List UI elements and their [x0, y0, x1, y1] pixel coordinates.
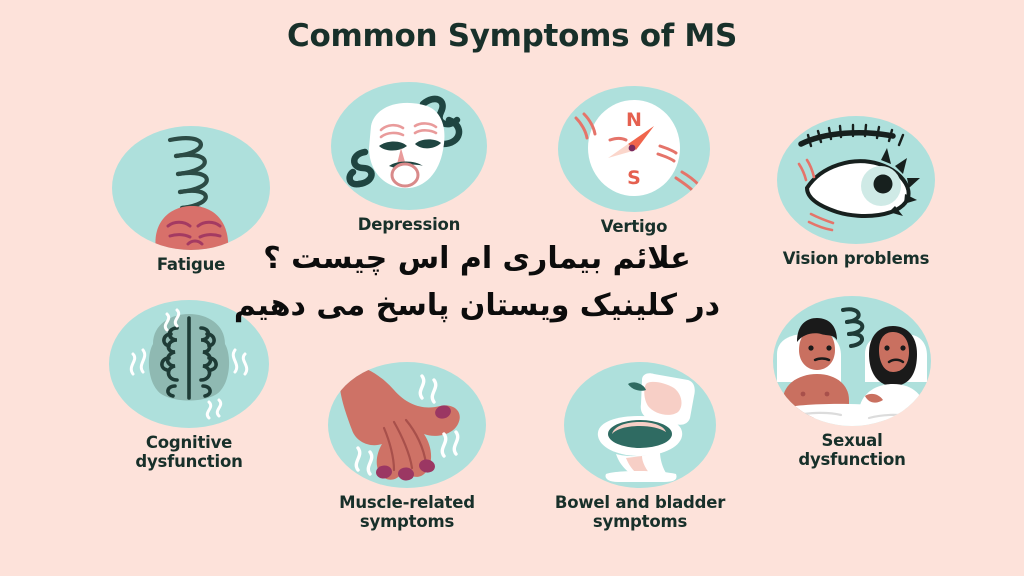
- symptom-label-vertigo: Vertigo: [551, 218, 717, 237]
- compass-south-label: S: [627, 167, 641, 189]
- infographic-poster: Common Symptoms of MS: [0, 0, 1024, 576]
- persian-headline-line2: در کلینیک ویستان پاسخ می دهیم: [212, 283, 742, 330]
- symptom-label-bowel: Bowel and bladder symptoms: [540, 494, 740, 532]
- trembling-hand-icon: [328, 362, 486, 488]
- persian-headline-line1: علائم بیماری ام اس چیست ؟: [212, 236, 742, 283]
- symptom-label-cognitive: Cognitive dysfunction: [100, 434, 278, 472]
- toilet-icon: [564, 362, 716, 488]
- couple-in-bed-icon: [773, 296, 931, 426]
- compass-north-label: N: [626, 109, 642, 131]
- symptom-item-vertigo: N S Vertigo: [551, 86, 717, 237]
- symptom-label-muscle: Muscle-related symptoms: [312, 494, 502, 532]
- tired-face-icon: [112, 126, 270, 250]
- persian-text-overlay: علائم بیماری ام اس چیست ؟ در کلینیک ویست…: [212, 236, 742, 329]
- symptom-item-muscle: Muscle-related symptoms: [312, 362, 502, 532]
- symptom-label-depression: Depression: [325, 216, 493, 235]
- sad-mask-icon: [331, 82, 487, 210]
- compass-icon: N S: [558, 86, 710, 212]
- symptom-label-sexual: Sexual dysfunction: [762, 432, 942, 470]
- symptom-item-bowel: Bowel and bladder symptoms: [540, 362, 740, 532]
- symptom-item-sexual: Sexual dysfunction: [762, 296, 942, 470]
- symptom-label-vision: Vision problems: [758, 250, 954, 269]
- symptom-item-depression: Depression: [325, 82, 493, 235]
- symptom-item-vision: Vision problems: [758, 116, 954, 269]
- eye-icon: [777, 116, 935, 244]
- page-title: Common Symptoms of MS: [0, 18, 1024, 54]
